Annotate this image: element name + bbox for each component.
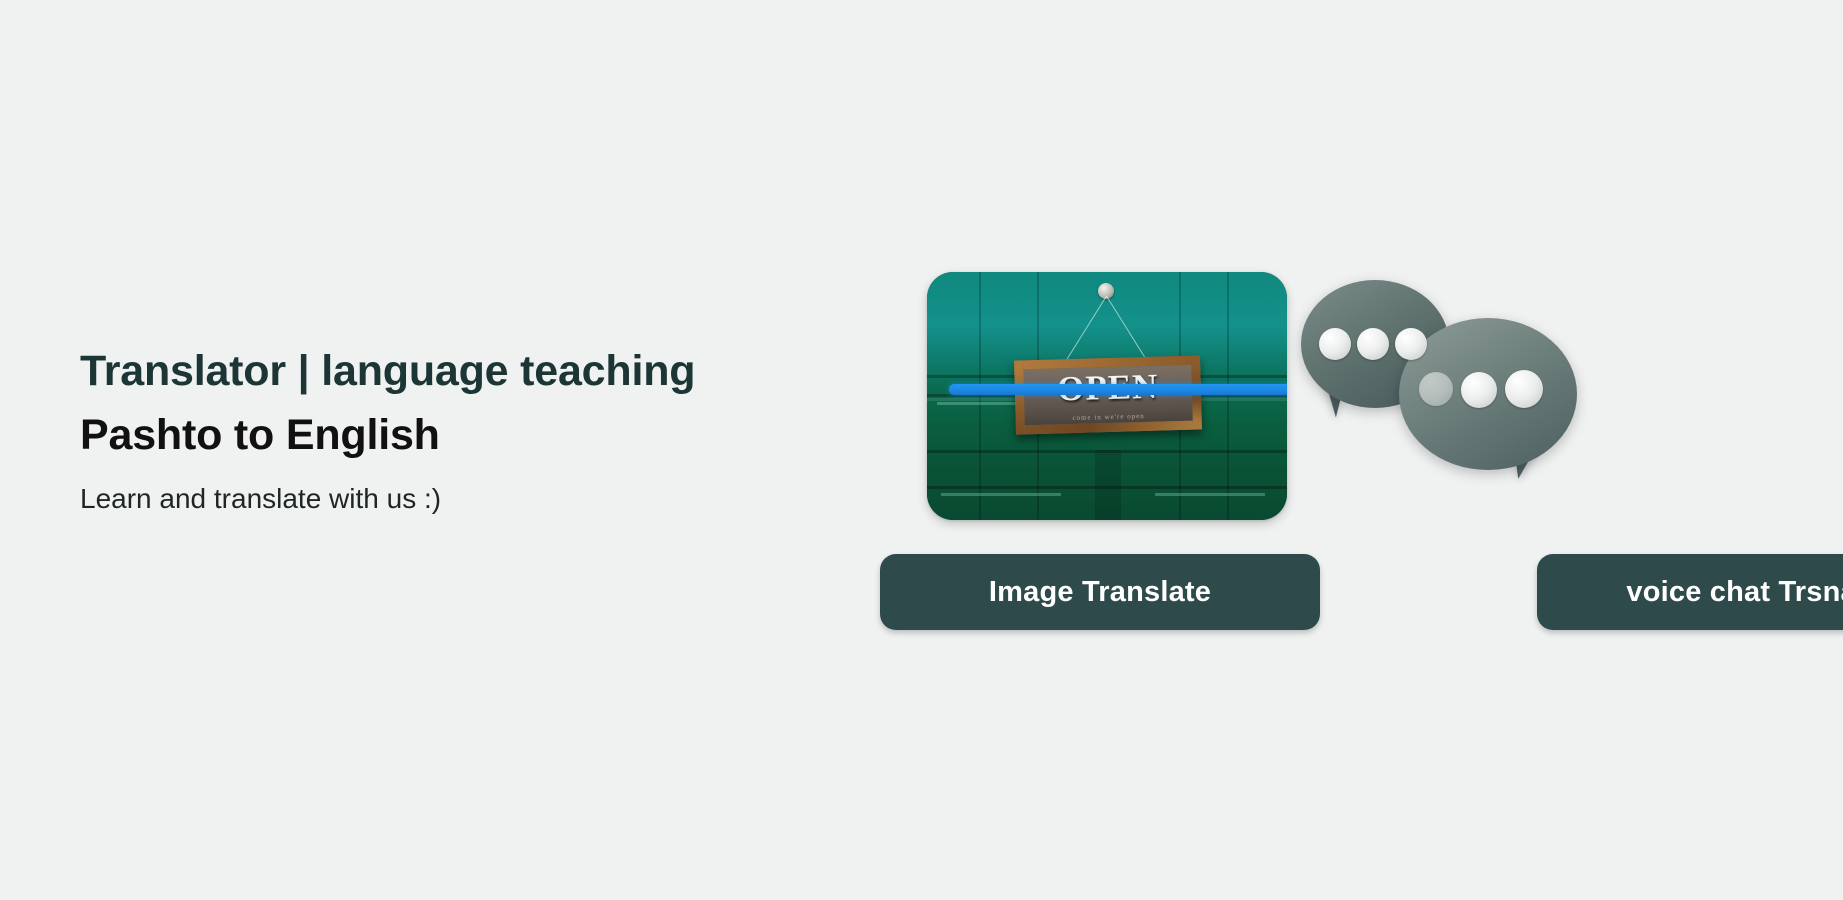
open-sign: OPEN come in we're open: [1014, 355, 1202, 434]
typing-dot: [1357, 328, 1389, 360]
typing-dot: [1319, 328, 1351, 360]
headline-line-1: Translator | language teaching: [80, 347, 695, 395]
typing-dot: [1461, 372, 1497, 408]
door-highlight: [941, 493, 1061, 496]
typing-dot: [1395, 328, 1427, 360]
feature-list: OPEN come in we're open Image Translate: [880, 272, 1740, 662]
typing-dot: [1505, 370, 1543, 408]
headline-line-2: Pashto to English: [80, 404, 870, 468]
page-title: Translator | language teaching Pashto to…: [80, 340, 870, 467]
promo-text-block: Translator | language teaching Pashto to…: [80, 340, 870, 518]
app-promo-screen: Translator | language teaching Pashto to…: [0, 0, 1843, 900]
door-center-stile: [1095, 450, 1121, 520]
door-highlight: [1155, 493, 1265, 496]
image-translate-thumbnail[interactable]: OPEN come in we're open: [927, 272, 1287, 520]
open-sign-subtext: come in we're open: [1025, 411, 1193, 424]
page-subtitle: Learn and translate with us :): [80, 481, 870, 517]
typing-dot: [1419, 372, 1453, 406]
voice-chat-translate-button[interactable]: voice chat Trsnalate: [1537, 554, 1843, 630]
image-translate-button[interactable]: Image Translate: [880, 554, 1320, 630]
chat-bubbles-icon[interactable]: [1301, 280, 1601, 510]
ocr-scan-line: [949, 384, 1287, 395]
